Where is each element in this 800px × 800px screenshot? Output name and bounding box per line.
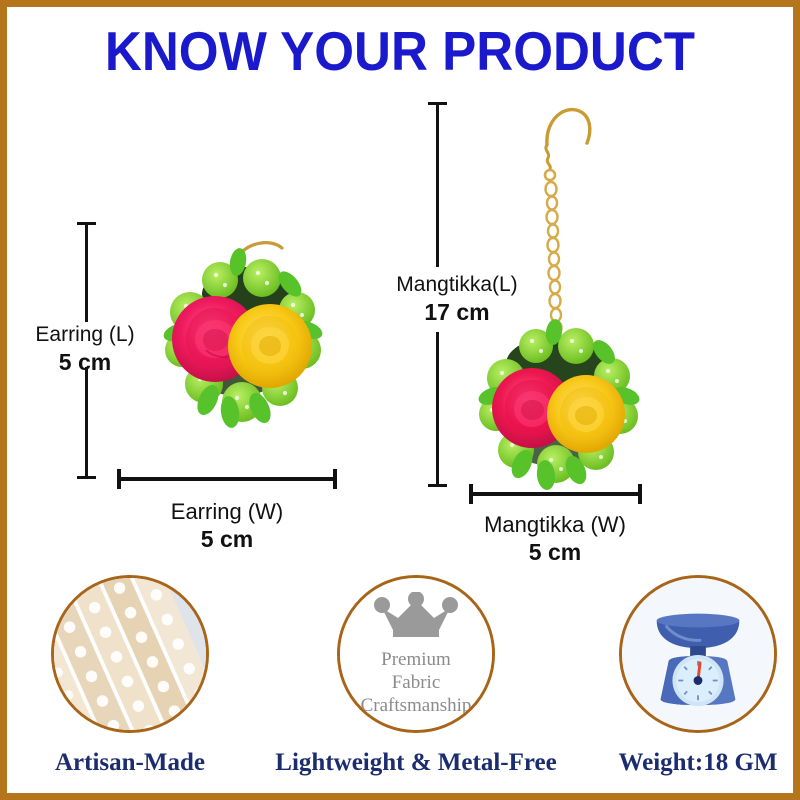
kitchen-scale-icon	[639, 595, 757, 713]
earring-width-dimension	[117, 477, 337, 481]
badge-premium-fabric-caption: Lightweight & Metal-Free	[251, 749, 581, 777]
badge-weight	[619, 575, 777, 733]
earring-width-value: 5 cm	[117, 525, 337, 553]
mangtikka-length-dimension-upper	[436, 102, 439, 267]
crown-badge-line-3: Craftsmanship	[361, 694, 472, 717]
mangtikka-width-value: 5 cm	[455, 538, 655, 566]
crown-badge-text: Premium Fabric Craftsmanship	[361, 648, 472, 717]
infographic-page: KNOW YOUR PRODUCT Earring (L) 5 cm	[0, 0, 800, 800]
mangtikka-length-dimension-lower	[436, 332, 439, 487]
page-title: KNOW YOUR PRODUCT	[35, 21, 766, 81]
earring-width-label: Earring (W) 5 cm	[117, 499, 337, 553]
earring-flower-cluster	[142, 232, 332, 437]
lace-trim-photo	[54, 578, 206, 730]
badge-premium-fabric: Premium Fabric Craftsmanship	[337, 575, 495, 733]
crown-badge-line-2: Fabric	[361, 671, 472, 694]
badge-artisan-made	[51, 575, 209, 733]
earring-length-dimension-upper	[85, 222, 88, 322]
mangtikka-length-text: Mangtikka(L)	[396, 273, 517, 296]
earring-width-text: Earring (W)	[171, 499, 283, 524]
mangtikka-flower-cluster	[462, 312, 652, 492]
crown-icon	[374, 592, 458, 646]
mangtikka-width-label: Mangtikka (W) 5 cm	[455, 512, 655, 566]
earring-length-text: Earring (L)	[35, 323, 134, 346]
mangtikka-hook-and-chain	[519, 97, 609, 337]
badge-artisan-made-caption: Artisan-Made	[20, 749, 240, 777]
mangtikka-width-text: Mangtikka (W)	[484, 512, 626, 537]
mangtikka-width-dimension	[469, 492, 642, 496]
earring-length-dimension-lower	[85, 367, 88, 479]
infographic-content: KNOW YOUR PRODUCT Earring (L) 5 cm	[7, 7, 793, 793]
crown-badge-line-1: Premium	[361, 648, 472, 671]
badge-weight-caption: Weight:18 GM	[582, 749, 800, 777]
